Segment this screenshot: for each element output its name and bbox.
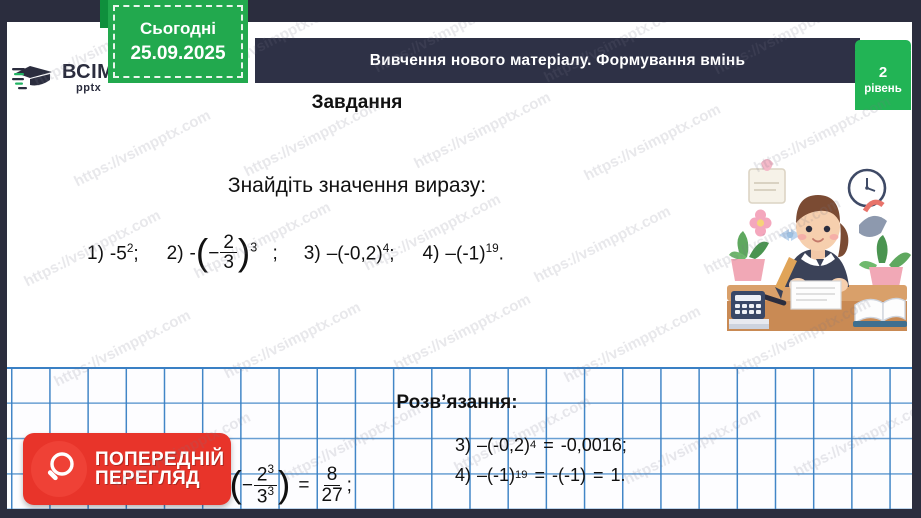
level-badge: 2 рівень xyxy=(855,48,911,110)
logo-main-text: ВСІМ xyxy=(62,62,114,82)
preview-overlay-badge[interactable]: ПОПЕРЕДНІЙ ПЕРЕГЛЯД xyxy=(23,433,231,505)
task-item-2-number: 2) xyxy=(167,243,184,265)
preview-badge-line-1: ПОПЕРЕДНІЙ xyxy=(95,450,224,469)
date-value: 25.09.2025 xyxy=(130,43,225,65)
frame-right-edge xyxy=(912,0,921,518)
solution-title: Розв’язання: xyxy=(257,392,657,414)
slide-canvas: ВСІМ pptx Вивчення нового матеріалу. Фор… xyxy=(7,22,912,509)
graduation-cap-icon xyxy=(12,60,58,96)
slide-stage: ВСІМ pptx Вивчення нового матеріалу. Фор… xyxy=(0,0,921,518)
section-header-title: Вивчення нового матеріалу. Формування вм… xyxy=(370,52,745,70)
solution-right-column: 3) –(-0,2)4 = -0,0016; 4) –(-1)19 = -(-1… xyxy=(455,430,875,490)
magnifier-icon xyxy=(31,441,87,497)
date-card: Сьогодні 25.09.2025 xyxy=(108,0,248,83)
task-item-4-expression: –(-1)19. xyxy=(445,242,504,265)
grid-top-border xyxy=(7,367,912,369)
task-item-4-number: 4) xyxy=(423,243,440,265)
task-title: Завдання xyxy=(7,92,707,114)
frame-bottom-edge xyxy=(0,509,921,518)
frame-left-edge xyxy=(0,0,7,518)
level-number: 2 xyxy=(879,64,887,81)
preview-badge-line-2: ПЕРЕГЛЯД xyxy=(95,469,224,488)
solution-right-row-1: 3) –(-0,2)4 = -0,0016; xyxy=(455,430,875,460)
date-label: Сьогодні xyxy=(140,19,216,39)
watermark-text: https://vsimpptx.com xyxy=(391,291,533,375)
level-word: рівень xyxy=(864,83,902,95)
task-item-1-number: 1) xyxy=(87,243,104,265)
task-item-2-expression: -(−23)3 ; xyxy=(190,234,278,274)
task-item-1-expression: -52; xyxy=(110,242,139,265)
girl-studying-at-desk-illustration xyxy=(719,145,912,347)
task-item-3-expression: –(-0,2)4; xyxy=(327,242,395,265)
task-item-3-number: 3) xyxy=(304,243,321,265)
task-prompt: Знайдіть значення виразу: xyxy=(7,174,707,198)
task-expression-row: 1) -52; 2) -(−23)3 ; 3) –(-0,2)4; 4) –(-… xyxy=(87,234,707,274)
section-header-band: Вивчення нового матеріалу. Формування вм… xyxy=(255,38,860,83)
solution-right-row-2: 4) –(-1)19 = -(-1) = 1. xyxy=(455,460,875,490)
